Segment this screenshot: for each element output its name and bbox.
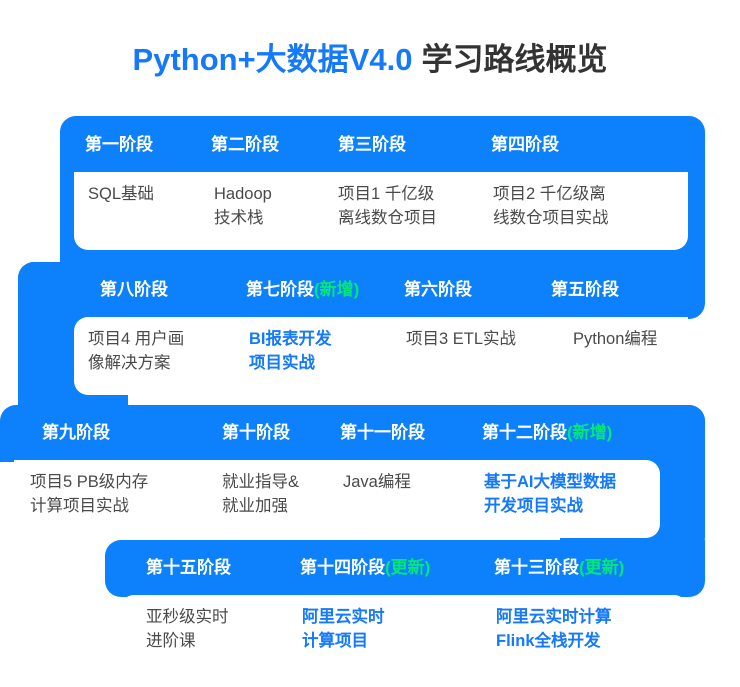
- stage-cell-5[interactable]: Python编程: [573, 327, 657, 351]
- stage-header-10[interactable]: 第十阶段: [222, 420, 290, 446]
- stage-cell-7-line-1: BI报表开发: [249, 327, 332, 351]
- stage-cell-1-line-1: SQL基础: [88, 182, 154, 206]
- stage-header-2[interactable]: 第二阶段: [211, 132, 279, 158]
- stage-cell-4-line-2: 线数仓项目实战: [493, 206, 609, 230]
- stage-header-1[interactable]: 第一阶段: [85, 132, 153, 158]
- stage-cell-14-line-1: 阿里云实时: [302, 605, 385, 629]
- stage-header-row-4: 第十五阶段 第十四阶段(更新) 第十三阶段(更新): [0, 555, 740, 581]
- roadmap-infographic: Python+大数据V4.0学习路线概览 第一阶段 第二阶段 第三阶段 第四阶段…: [0, 0, 740, 687]
- stage-cell-2-line-1: Hadoop: [214, 182, 272, 206]
- stage-header-row-3: 第九阶段 第十阶段 第十一阶段 第十二阶段(新增): [0, 420, 740, 446]
- stage-cell-9-line-1: 项目5 PB级内存: [30, 470, 148, 494]
- stage-cell-12-line-2: 开发项目实战: [484, 494, 616, 518]
- stage-header-12[interactable]: 第十二阶段(新增): [482, 420, 612, 446]
- stage-cell-4[interactable]: 项目2 千亿级离 线数仓项目实战: [493, 182, 609, 230]
- page-title-rest: 学习路线概览: [421, 42, 607, 77]
- stage-cell-10-line-2: 就业加强: [222, 494, 299, 518]
- stage-header-8-label: 第八阶段: [100, 280, 168, 299]
- stage-header-12-label: 第十二阶段: [482, 423, 567, 442]
- stage-cell-11[interactable]: Java编程: [343, 470, 411, 494]
- stage-header-4[interactable]: 第四阶段: [491, 132, 559, 158]
- stage-cell-3-line-2: 离线数仓项目: [338, 206, 437, 230]
- stage-cell-9[interactable]: 项目5 PB级内存 计算项目实战: [30, 470, 148, 518]
- stage-header-3-label: 第三阶段: [338, 135, 406, 154]
- stage-cell-1[interactable]: SQL基础: [88, 182, 154, 206]
- stage-cell-10[interactable]: 就业指导& 就业加强: [222, 470, 299, 518]
- stage-header-14-label: 第十四阶段: [300, 558, 385, 577]
- stage-cell-10-line-1: 就业指导&: [222, 470, 299, 494]
- stage-header-11-label: 第十一阶段: [340, 423, 425, 442]
- stage-header-9-label: 第九阶段: [42, 423, 110, 442]
- stage-cell-11-line-1: Java编程: [343, 470, 411, 494]
- stage-header-13-tag: (更新): [579, 558, 624, 577]
- stage-cell-15-line-1: 亚秒级实时: [146, 605, 229, 629]
- page-title: Python+大数据V4.0学习路线概览: [0, 34, 740, 79]
- stage-cell-8-line-2: 像解决方案: [88, 351, 184, 375]
- stage-header-7-tag: (新增): [314, 280, 359, 299]
- track-row-1-bottom-cap: [60, 254, 705, 262]
- stage-header-15-label: 第十五阶段: [146, 558, 231, 577]
- stage-header-11[interactable]: 第十一阶段: [340, 420, 425, 446]
- stage-cell-13[interactable]: 阿里云实时计算 Flink全栈开发: [496, 605, 612, 653]
- stage-header-15[interactable]: 第十五阶段: [146, 555, 231, 581]
- stage-cell-8[interactable]: 项目4 用户画 像解决方案: [88, 327, 184, 375]
- page-title-highlight: Python+大数据V4.0: [133, 42, 413, 77]
- stage-cell-3-line-1: 项目1 千亿级: [338, 182, 437, 206]
- stage-header-12-tag: (新增): [567, 423, 612, 442]
- stage-cell-3[interactable]: 项目1 千亿级 离线数仓项目: [338, 182, 437, 230]
- stage-cell-12-line-1: 基于AI大模型数据: [484, 470, 616, 494]
- stage-cell-7[interactable]: BI报表开发 项目实战: [249, 327, 332, 375]
- stage-header-8[interactable]: 第八阶段: [100, 277, 168, 303]
- stage-header-14-tag: (更新): [385, 558, 430, 577]
- stage-header-2-label: 第二阶段: [211, 135, 279, 154]
- stage-header-4-label: 第四阶段: [491, 135, 559, 154]
- stage-cell-12[interactable]: 基于AI大模型数据 开发项目实战: [484, 470, 616, 518]
- stage-cell-13-line-1: 阿里云实时计算: [496, 605, 612, 629]
- stage-header-7[interactable]: 第七阶段(新增): [246, 277, 359, 303]
- stage-header-10-label: 第十阶段: [222, 423, 290, 442]
- stage-cell-8-line-1: 项目4 用户画: [88, 327, 184, 351]
- stage-cell-2-line-2: 技术栈: [214, 206, 272, 230]
- stage-header-9[interactable]: 第九阶段: [42, 420, 110, 446]
- stage-cell-9-line-2: 计算项目实战: [30, 494, 148, 518]
- stage-cell-14-line-2: 计算项目: [302, 629, 385, 653]
- stage-cell-15[interactable]: 亚秒级实时 进阶课: [146, 605, 229, 653]
- stage-cell-5-line-1: Python编程: [573, 327, 657, 351]
- stage-header-1-label: 第一阶段: [85, 135, 153, 154]
- stage-header-3[interactable]: 第三阶段: [338, 132, 406, 158]
- stage-cell-7-line-2: 项目实战: [249, 351, 332, 375]
- stage-cell-14[interactable]: 阿里云实时 计算项目: [302, 605, 385, 653]
- stage-header-5[interactable]: 第五阶段: [551, 277, 619, 303]
- stage-header-6-label: 第六阶段: [404, 280, 472, 299]
- stage-header-13-label: 第十三阶段: [494, 558, 579, 577]
- stage-header-14[interactable]: 第十四阶段(更新): [300, 555, 430, 581]
- stage-cell-13-line-2: Flink全栈开发: [496, 629, 612, 653]
- stage-header-7-label: 第七阶段: [246, 280, 314, 299]
- stage-header-row-2: 第八阶段 第七阶段(新增) 第六阶段 第五阶段: [0, 277, 740, 303]
- stage-header-13[interactable]: 第十三阶段(更新): [494, 555, 624, 581]
- stage-cell-4-line-1: 项目2 千亿级离: [493, 182, 609, 206]
- stage-cell-6-line-1: 项目3 ETL实战: [406, 327, 516, 351]
- stage-header-5-label: 第五阶段: [551, 280, 619, 299]
- stage-cell-15-line-2: 进阶课: [146, 629, 229, 653]
- stage-cell-6[interactable]: 项目3 ETL实战: [406, 327, 516, 351]
- stage-cell-2[interactable]: Hadoop 技术栈: [214, 182, 272, 230]
- stage-header-row-1: 第一阶段 第二阶段 第三阶段 第四阶段: [0, 132, 740, 158]
- stage-header-6[interactable]: 第六阶段: [404, 277, 472, 303]
